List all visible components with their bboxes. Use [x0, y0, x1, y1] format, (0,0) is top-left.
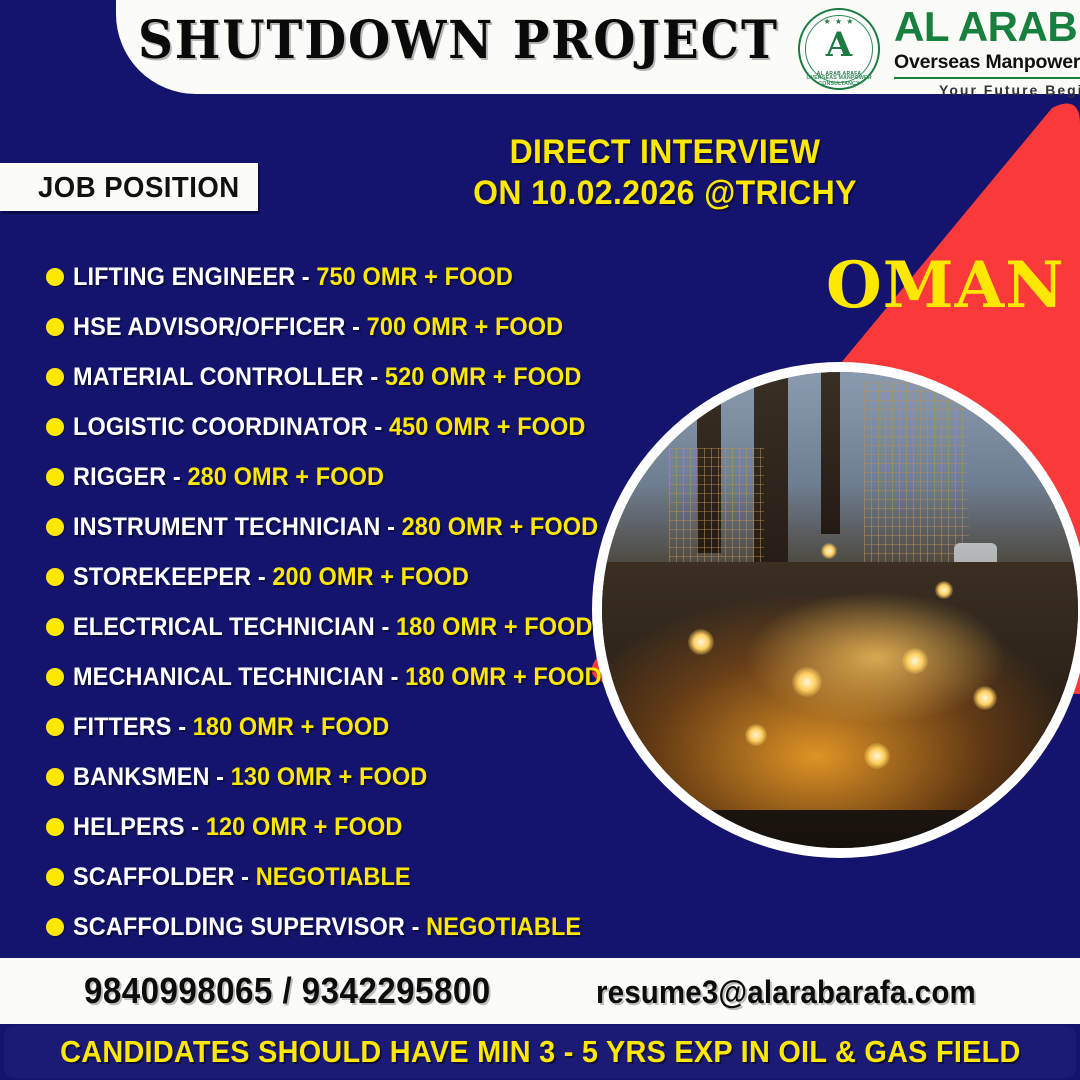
job-list-item: ELECTRICAL TECHNICIAN - 180 OMR + FOOD: [46, 602, 646, 652]
brand-block: AL ARAB ARAFA Overseas Manpower Consulta…: [894, 6, 1080, 98]
job-separator: -: [235, 863, 256, 891]
job-salary: 520 OMR + FOOD: [385, 363, 582, 391]
brand-subtitle: Overseas Manpower Consultancy: [894, 51, 1080, 74]
seal-monogram: A: [798, 28, 880, 62]
job-salary: NEGOTIABLE: [256, 863, 411, 891]
bullet-dot-icon: [46, 518, 64, 536]
job-salary: 180 OMR + FOOD: [405, 663, 602, 691]
job-title: MATERIAL CONTROLLER: [73, 363, 364, 391]
job-title: LIFTING ENGINEER: [73, 263, 295, 291]
photo-lamp: [745, 724, 767, 746]
bullet-dot-icon: [46, 468, 64, 486]
job-separator: -: [251, 563, 272, 591]
job-list-item: HELPERS - 120 OMR + FOOD: [46, 802, 646, 852]
job-salary: 700 OMR + FOOD: [367, 313, 564, 341]
job-salary: NEGOTIABLE: [426, 913, 581, 941]
oil-refinery-photo: [602, 372, 1078, 848]
interview-announcement: DIRECT INTERVIEW ON 10.02.2026 @TRICHY: [430, 132, 900, 215]
job-separator: -: [405, 913, 426, 941]
job-separator: -: [375, 613, 396, 641]
company-seal-icon: ★ ★ ★ A AL ARAB ARAFA OVERSEAS MANPOWER …: [798, 8, 880, 90]
bullet-dot-icon: [46, 868, 64, 886]
bullet-dot-icon: [46, 768, 64, 786]
job-separator: -: [380, 513, 401, 541]
job-separator: -: [172, 713, 193, 741]
bullet-dot-icon: [46, 918, 64, 936]
job-list-item: SCAFFOLDER - NEGOTIABLE: [46, 852, 646, 902]
job-salary: 280 OMR + FOOD: [187, 463, 384, 491]
brand-tagline: Your Future Begins Here: [894, 82, 1080, 98]
photo-ring: [592, 362, 1080, 858]
bullet-dot-icon: [46, 568, 64, 586]
job-salary: 200 OMR + FOOD: [272, 563, 469, 591]
job-title: FITTERS: [73, 713, 172, 741]
job-title: SCAFFOLDER: [73, 863, 235, 891]
job-title: LOGISTIC COORDINATOR: [73, 413, 368, 441]
bullet-dot-icon: [46, 818, 64, 836]
job-list-item: MECHANICAL TECHNICIAN - 180 OMR + FOOD: [46, 652, 646, 702]
job-list-item-text: LOGISTIC COORDINATOR - 450 OMR + FOOD: [73, 413, 585, 442]
job-position-list: LIFTING ENGINEER - 750 OMR + FOODHSE ADV…: [46, 252, 646, 952]
interview-line-2: ON 10.02.2026 @TRICHY: [444, 173, 886, 214]
contact-email[interactable]: resume3@alarabarafa.com: [596, 974, 976, 1011]
job-title: RIGGER: [73, 463, 166, 491]
job-separator: -: [295, 263, 316, 291]
job-list-item: FITTERS - 180 OMR + FOOD: [46, 702, 646, 752]
job-list-item-text: ELECTRICAL TECHNICIAN - 180 OMR + FOOD: [73, 613, 593, 642]
job-title: STOREKEEPER: [73, 563, 251, 591]
job-salary: 280 OMR + FOOD: [402, 513, 599, 541]
job-title: HSE ADVISOR/OFFICER: [73, 313, 345, 341]
footer-banner: CANDIDATES SHOULD HAVE MIN 3 - 5 YRS EXP…: [4, 1026, 1076, 1078]
photo-lamp: [902, 648, 928, 674]
bullet-dot-icon: [46, 268, 64, 286]
bullet-dot-icon: [46, 318, 64, 336]
job-list-item: STOREKEEPER - 200 OMR + FOOD: [46, 552, 646, 602]
page-title: SHUTDOWN PROJECT: [138, 10, 779, 71]
job-list-item: HSE ADVISOR/OFFICER - 700 OMR + FOOD: [46, 302, 646, 352]
job-salary: 130 OMR + FOOD: [231, 763, 428, 791]
job-list-item-text: RIGGER - 280 OMR + FOOD: [73, 463, 384, 492]
seal-rim-text: OVERSEAS MANPOWER CONSULTANCY: [800, 75, 878, 87]
job-list-item: INSTRUMENT TECHNICIAN - 280 OMR + FOOD: [46, 502, 646, 552]
job-separator: -: [368, 413, 389, 441]
brand-name: AL ARAB ARAFA: [894, 6, 1080, 48]
job-salary: 750 OMR + FOOD: [316, 263, 513, 291]
job-list-item-text: LIFTING ENGINEER - 750 OMR + FOOD: [73, 263, 513, 292]
brand-divider: [894, 77, 1080, 79]
photo-lamp: [864, 743, 890, 769]
country-badge-oman: OMAN: [826, 248, 1065, 323]
job-list-item-text: STOREKEEPER - 200 OMR + FOOD: [73, 563, 469, 592]
job-list-item-text: MATERIAL CONTROLLER - 520 OMR + FOOD: [73, 363, 581, 392]
job-list-item: BANKSMEN - 130 OMR + FOOD: [46, 752, 646, 802]
job-position-heading-box: JOB POSITION: [0, 163, 258, 211]
bullet-dot-icon: [46, 618, 64, 636]
job-list-item-text: BANKSMEN - 130 OMR + FOOD: [73, 763, 427, 792]
job-separator: -: [364, 363, 385, 391]
job-list-item: LOGISTIC COORDINATOR - 450 OMR + FOOD: [46, 402, 646, 452]
footer-requirement-note: CANDIDATES SHOULD HAVE MIN 3 - 5 YRS EXP…: [60, 1034, 1021, 1070]
job-list-item-text: INSTRUMENT TECHNICIAN - 280 OMR + FOOD: [73, 513, 598, 542]
photo-lamp: [688, 629, 714, 655]
contact-phone-numbers[interactable]: 9840998065 / 9342295800: [84, 970, 491, 1012]
bullet-dot-icon: [46, 418, 64, 436]
job-list-item: RIGGER - 280 OMR + FOOD: [46, 452, 646, 502]
photo-light-glow-core: [745, 591, 1007, 724]
job-list-item-text: HELPERS - 120 OMR + FOOD: [73, 813, 402, 842]
job-list-item-text: SCAFFOLDER - NEGOTIABLE: [73, 863, 411, 892]
job-salary: 120 OMR + FOOD: [206, 813, 403, 841]
job-list-item-text: MECHANICAL TECHNICIAN - 180 OMR + FOOD: [73, 663, 602, 692]
job-title: BANKSMEN: [73, 763, 210, 791]
recruitment-poster: OMAN SHUTDOWN PROJECT ★ ★ ★ A AL ARAB AR…: [0, 0, 1080, 1080]
bullet-dot-icon: [46, 368, 64, 386]
job-title: INSTRUMENT TECHNICIAN: [73, 513, 380, 541]
job-title: HELPERS: [73, 813, 185, 841]
job-salary: 180 OMR + FOOD: [396, 613, 593, 641]
photo-stack-3: [821, 372, 840, 534]
job-list-item-text: FITTERS - 180 OMR + FOOD: [73, 713, 389, 742]
bullet-dot-icon: [46, 718, 64, 736]
bullet-dot-icon: [46, 668, 64, 686]
job-title: MECHANICAL TECHNICIAN: [73, 663, 384, 691]
interview-line-1: DIRECT INTERVIEW: [444, 132, 886, 173]
job-position-heading: JOB POSITION: [38, 172, 240, 205]
job-list-item: LIFTING ENGINEER - 750 OMR + FOOD: [46, 252, 646, 302]
job-list-item-text: SCAFFOLDING SUPERVISOR - NEGOTIABLE: [73, 913, 581, 942]
header-banner: SHUTDOWN PROJECT ★ ★ ★ A AL ARAB ARAFA O…: [116, 0, 1080, 94]
contact-strip: 9840998065 / 9342295800 resume3@alarabar…: [0, 958, 1080, 1024]
job-title: SCAFFOLDING SUPERVISOR: [73, 913, 405, 941]
job-separator: -: [185, 813, 206, 841]
job-salary: 180 OMR + FOOD: [193, 713, 390, 741]
job-title: ELECTRICAL TECHNICIAN: [73, 613, 375, 641]
job-separator: -: [345, 313, 366, 341]
job-separator: -: [166, 463, 187, 491]
job-separator: -: [210, 763, 231, 791]
job-salary: 450 OMR + FOOD: [389, 413, 586, 441]
job-list-item-text: HSE ADVISOR/OFFICER - 700 OMR + FOOD: [73, 313, 563, 342]
job-list-item: MATERIAL CONTROLLER - 520 OMR + FOOD: [46, 352, 646, 402]
job-separator: -: [384, 663, 405, 691]
job-list-item: SCAFFOLDING SUPERVISOR - NEGOTIABLE: [46, 902, 646, 952]
